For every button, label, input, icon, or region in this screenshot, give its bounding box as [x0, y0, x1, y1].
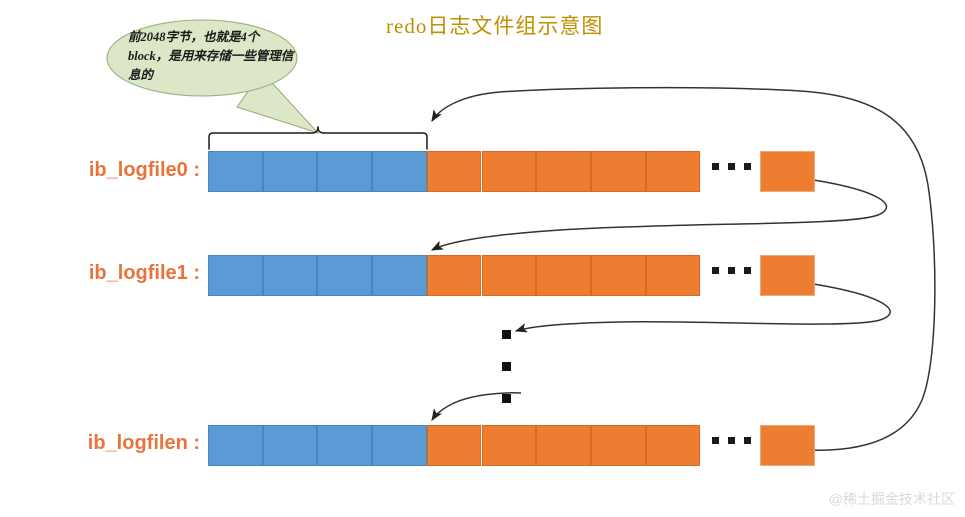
log-block-data: [482, 425, 537, 466]
log-block-data: [646, 425, 701, 466]
row-ellipsis-dot: [728, 163, 735, 170]
log-block-header: [263, 425, 318, 466]
row-ellipsis: [712, 267, 751, 274]
log-block-data: [536, 425, 591, 466]
log-block-header: [372, 425, 427, 466]
vertical-ellipsis-dot: [502, 394, 511, 403]
block-row-ib-logfile1: [208, 255, 815, 296]
log-block-header: [372, 151, 427, 192]
management-area-brace: [209, 127, 427, 149]
watermark: @稀土掘金技术社区: [829, 489, 955, 509]
row-ellipsis-dot: [728, 437, 735, 444]
log-block-header: [208, 151, 263, 192]
log-block-data-last: [760, 425, 815, 466]
row-ellipsis-dot: [744, 163, 751, 170]
row-label-ib-logfile0: ib_logfile0 :: [40, 159, 200, 182]
row-ellipsis-dot: [712, 267, 719, 274]
vertical-ellipsis-dot: [502, 362, 511, 371]
row-label-ib-logfile1: ib_logfile1 :: [40, 262, 200, 285]
row-ellipsis: [712, 163, 751, 170]
row-label-ib-logfilen: ib_logfilen :: [40, 432, 200, 455]
vertical-ellipsis: [502, 330, 511, 426]
row-ellipsis-dot: [712, 163, 719, 170]
log-block-header: [317, 151, 372, 192]
log-block-data: [536, 255, 591, 296]
row-ellipsis: [712, 437, 751, 444]
log-block-header: [208, 255, 263, 296]
row-ellipsis-dot: [712, 437, 719, 444]
log-block-data-last: [760, 255, 815, 296]
log-block-header: [317, 425, 372, 466]
log-block-data: [536, 151, 591, 192]
page-title: redo日志文件组示意图: [386, 10, 603, 40]
log-block-data: [591, 425, 646, 466]
vertical-ellipsis-dot: [502, 330, 511, 339]
block-row-ib-logfile0: [208, 151, 815, 192]
log-block-data: [591, 151, 646, 192]
log-block-data: [482, 151, 537, 192]
log-block-header: [263, 255, 318, 296]
row-ellipsis-dot: [744, 267, 751, 274]
log-block-header: [372, 255, 427, 296]
log-block-data: [427, 255, 482, 296]
log-block-data-last: [760, 151, 815, 192]
log-block-data: [591, 255, 646, 296]
log-block-header: [208, 425, 263, 466]
row-ellipsis-dot: [744, 437, 751, 444]
callout-text: 前2048字节，也就是4个block，是用来存储一些管理信息的: [128, 28, 296, 85]
log-block-data: [482, 255, 537, 296]
log-block-data: [646, 151, 701, 192]
block-row-ib-logfilen: [208, 425, 815, 466]
log-block-data: [646, 255, 701, 296]
row-ellipsis-dot: [728, 267, 735, 274]
log-block-data: [427, 425, 482, 466]
diagram-canvas: redo日志文件组示意图 前2048字节，也就是4个block，是用来存储一些管…: [0, 0, 965, 517]
log-block-header: [263, 151, 318, 192]
log-block-header: [317, 255, 372, 296]
log-block-data: [427, 151, 482, 192]
